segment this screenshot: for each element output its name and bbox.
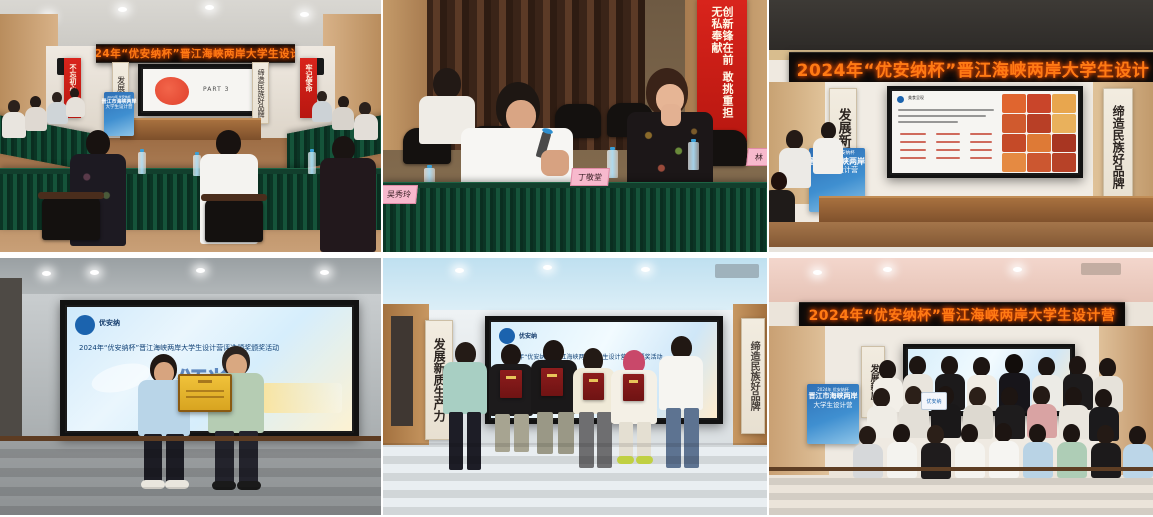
photo-1-led-banner: 2024年“优安纳杯”晋江海峡两岸大学生设计营	[96, 44, 295, 63]
photo-3-led-screen: 美食呈现	[887, 86, 1083, 178]
speaker-hand	[541, 150, 569, 176]
downlight-icon	[813, 270, 822, 275]
downlight-icon	[196, 268, 205, 273]
person-head	[1033, 386, 1050, 405]
person-head	[873, 388, 890, 407]
certificate-icon	[541, 368, 563, 396]
screen-part-label: PART 3	[203, 86, 229, 93]
gallery-photo-1[interactable]: 2024年“优安纳杯”晋江海峡两岸大学生设计营 PART 3 发展新质 缔造民族…	[0, 0, 381, 252]
downlight-icon	[90, 270, 99, 275]
person-head	[969, 387, 986, 406]
sign-line-2: 晋江市海峡两岸	[809, 393, 858, 400]
photo-1-scroll-right: 缔造民族好品牌	[252, 62, 269, 124]
scroll-right-text: 缔造民族好品牌	[257, 69, 264, 118]
slide-title: 美食呈现	[908, 95, 924, 101]
sign-line-3: 大学生设计营	[814, 402, 853, 409]
person-head	[1099, 358, 1116, 377]
photo-2-nameplate-left: 吴秀玲	[383, 185, 418, 204]
person-body	[443, 362, 487, 414]
floor-trim	[0, 436, 381, 441]
ceiling	[383, 258, 767, 316]
screen-brand-name: 优安纳	[519, 331, 537, 340]
person-body	[769, 190, 795, 226]
brand-logo-icon	[499, 328, 515, 344]
screen-brand-name: 优安纳	[99, 318, 120, 328]
photo-3-led-banner: 2024年“优安纳杯”晋江海峡两岸大学生设计	[789, 52, 1153, 84]
person-body	[66, 97, 85, 117]
person-head	[216, 130, 241, 156]
certificate-icon	[623, 374, 644, 401]
photo-2-nameplate-center: 丁敬堂	[570, 168, 610, 186]
seal-graphic-icon	[155, 77, 189, 105]
person-head	[1029, 424, 1046, 443]
person-body	[332, 107, 354, 130]
floor-trim	[769, 467, 1153, 471]
person-hand	[661, 104, 681, 126]
gallery-photo-5[interactable]: 发展新质生产力 缔造民族好品牌 优安纳 2024年“优安纳杯”晋江海峡两岸大学生…	[383, 258, 767, 515]
person-head	[1063, 424, 1080, 443]
person-head	[973, 357, 990, 376]
photo-6-led-banner: 2024年“优安纳杯”晋江海峡两岸大学生设计营	[799, 302, 1125, 328]
person-head	[433, 68, 461, 99]
gallery-photo-6[interactable]: 2024年“优安纳杯”晋江海峡两岸大学生设计营 发展新质 2024年 优安纳杯 …	[769, 258, 1153, 515]
person-body	[813, 138, 843, 174]
photo-4-award-plaque	[178, 374, 232, 412]
person-body	[25, 107, 47, 131]
downlight-icon	[320, 270, 329, 275]
gallery-photo-3[interactable]: 2024年“优安纳杯”晋江海峡两岸大学生设计 发展新质 缔造民族好品牌 美食呈现	[769, 0, 1153, 252]
photo-6-held-card: 优安纳	[921, 392, 947, 410]
photo-gallery-grid: 2024年“优安纳杯”晋江海峡两岸大学生设计营 PART 3 发展新质 缔造民族…	[0, 0, 1153, 517]
photo-2-scene: 创新锋在前 敢挑重担 无私奉献	[383, 0, 767, 252]
logo-icon	[897, 96, 904, 103]
screen-swoosh	[262, 383, 342, 413]
brand-logo-icon	[75, 315, 95, 335]
person-head	[1038, 357, 1055, 376]
person-body	[320, 158, 376, 252]
photo-6-event-sign: 2024年 优安纳杯 晋江市海峡两岸 大学生设计营	[807, 384, 859, 444]
person-head	[1069, 356, 1086, 375]
downlight-icon	[543, 265, 552, 270]
led-banner-text: 2024年“优安纳杯”晋江海峡两岸大学生设计	[797, 56, 1150, 81]
photo-6-scene: 2024年“优安纳杯”晋江海峡两岸大学生设计营 发展新质 2024年 优安纳杯 …	[769, 258, 1153, 515]
nameplate-center-text: 丁敬堂	[577, 172, 602, 183]
nameplate-right-text: 林	[754, 152, 763, 163]
downlight-icon	[883, 267, 892, 272]
person-head	[771, 172, 787, 190]
person-head	[1001, 387, 1018, 406]
person-head	[1097, 425, 1114, 444]
red-banner-text: 创新锋在前 敢挑重担 无私奉献	[711, 6, 733, 134]
photo-5-scroll-right: 缔造民族好品牌	[741, 318, 765, 434]
wood-floor	[0, 439, 381, 515]
person-head	[909, 356, 926, 375]
water-bottle-icon	[138, 152, 146, 174]
certificate-icon	[500, 370, 522, 398]
person-head	[786, 130, 803, 149]
ceiling	[0, 258, 381, 294]
doorway	[391, 316, 413, 426]
person-head	[961, 424, 978, 443]
chair-frame	[38, 192, 104, 199]
photo-5-scene: 发展新质生产力 缔造民族好品牌 优安纳 2024年“优安纳杯”晋江海峡两岸大学生…	[383, 258, 767, 515]
person-head	[86, 130, 110, 156]
led-banner-text: 2024年“优安纳杯”晋江海峡两岸大学生设计营	[809, 305, 1116, 325]
water-bottle-icon	[308, 152, 316, 174]
led-banner-text: 2024年“优安纳杯”晋江海峡两岸大学生设计营	[96, 46, 295, 61]
person-head	[893, 424, 910, 443]
downlight-icon	[641, 267, 650, 272]
person-head	[905, 386, 922, 405]
person-body	[47, 102, 68, 124]
red-banner-right-text: 牢记使命	[305, 64, 312, 112]
person-head	[1065, 387, 1082, 406]
stage-platform	[819, 196, 1153, 224]
nameplate-left-text: 吴秀玲	[386, 189, 411, 200]
person-head	[821, 122, 836, 139]
photo-4-scene: 优安纳 2024年“优安纳杯”晋江海峡两岸大学生设计营评选颁奖颁奖活动 颁奖	[0, 258, 381, 515]
person-body	[659, 356, 703, 410]
photo-3-scroll-right: 缔造民族好品牌	[1103, 88, 1133, 206]
photo-1-scene: 2024年“优安纳杯”晋江海峡两岸大学生设计营 PART 3 发展新质 缔造民族…	[0, 0, 381, 252]
photo-bottom-edge	[769, 247, 1153, 252]
scroll-right-text: 缔造民族好品牌	[748, 341, 758, 411]
downlight-icon	[300, 12, 309, 17]
photo-1-projection-screen: PART 3	[138, 64, 258, 116]
person-body	[2, 112, 26, 138]
photo-3-scene: 2024年“优安纳杯”晋江海峡两岸大学生设计 发展新质 缔造民族好品牌 美食呈现	[769, 0, 1153, 252]
person-body	[354, 114, 378, 140]
doorway	[0, 278, 22, 441]
panel-table	[383, 182, 767, 252]
wood-floor	[383, 443, 767, 515]
slide-food-photos	[1002, 94, 1076, 172]
water-bottle-icon	[688, 142, 699, 170]
chair	[42, 196, 100, 240]
downlight-icon	[1013, 267, 1022, 272]
gallery-photo-4[interactable]: 优安纳 2024年“优安纳杯”晋江海峡两岸大学生设计营评选颁奖颁奖活动 颁奖	[0, 258, 381, 515]
photo-1-podium-sign: 2024年 优安纳杯 晋江市海峡两岸 大学生设计营	[104, 92, 134, 136]
chair	[205, 198, 263, 242]
ceiling	[769, 0, 1153, 50]
screen-event-title: 2024年“优安纳杯”晋江海峡两岸大学生设计营评选颁奖颁奖活动	[79, 343, 340, 353]
scroll-right-text: 缔造民族好品牌	[1112, 105, 1124, 189]
person-head	[941, 356, 958, 375]
podium-line-3: 大学生设计营	[106, 106, 133, 111]
held-card-text: 优安纳	[926, 398, 941, 405]
gallery-photo-2[interactable]: 创新锋在前 敢挑重担 无私奉献	[383, 0, 767, 252]
wood-floor	[769, 471, 1153, 515]
air-vent	[715, 264, 759, 278]
downlight-icon	[455, 268, 464, 273]
person-head	[879, 360, 896, 379]
downlight-icon	[42, 271, 51, 276]
air-vent	[1081, 263, 1121, 275]
person-head	[927, 425, 944, 444]
person-head	[1095, 389, 1112, 408]
photo-2-nameplate-right: 林	[746, 148, 767, 166]
person-body	[312, 101, 332, 122]
downlight-icon	[118, 7, 127, 12]
person-head	[859, 426, 876, 445]
downlight-icon	[205, 5, 214, 10]
person-head	[995, 423, 1012, 442]
person-head	[1129, 426, 1146, 445]
certificate-icon	[583, 373, 604, 400]
screen-content: 美食呈现	[892, 91, 1078, 173]
screen-content: PART 3	[143, 69, 253, 111]
person-head	[501, 344, 521, 366]
chair-frame	[201, 194, 267, 201]
person-head	[1005, 354, 1023, 374]
